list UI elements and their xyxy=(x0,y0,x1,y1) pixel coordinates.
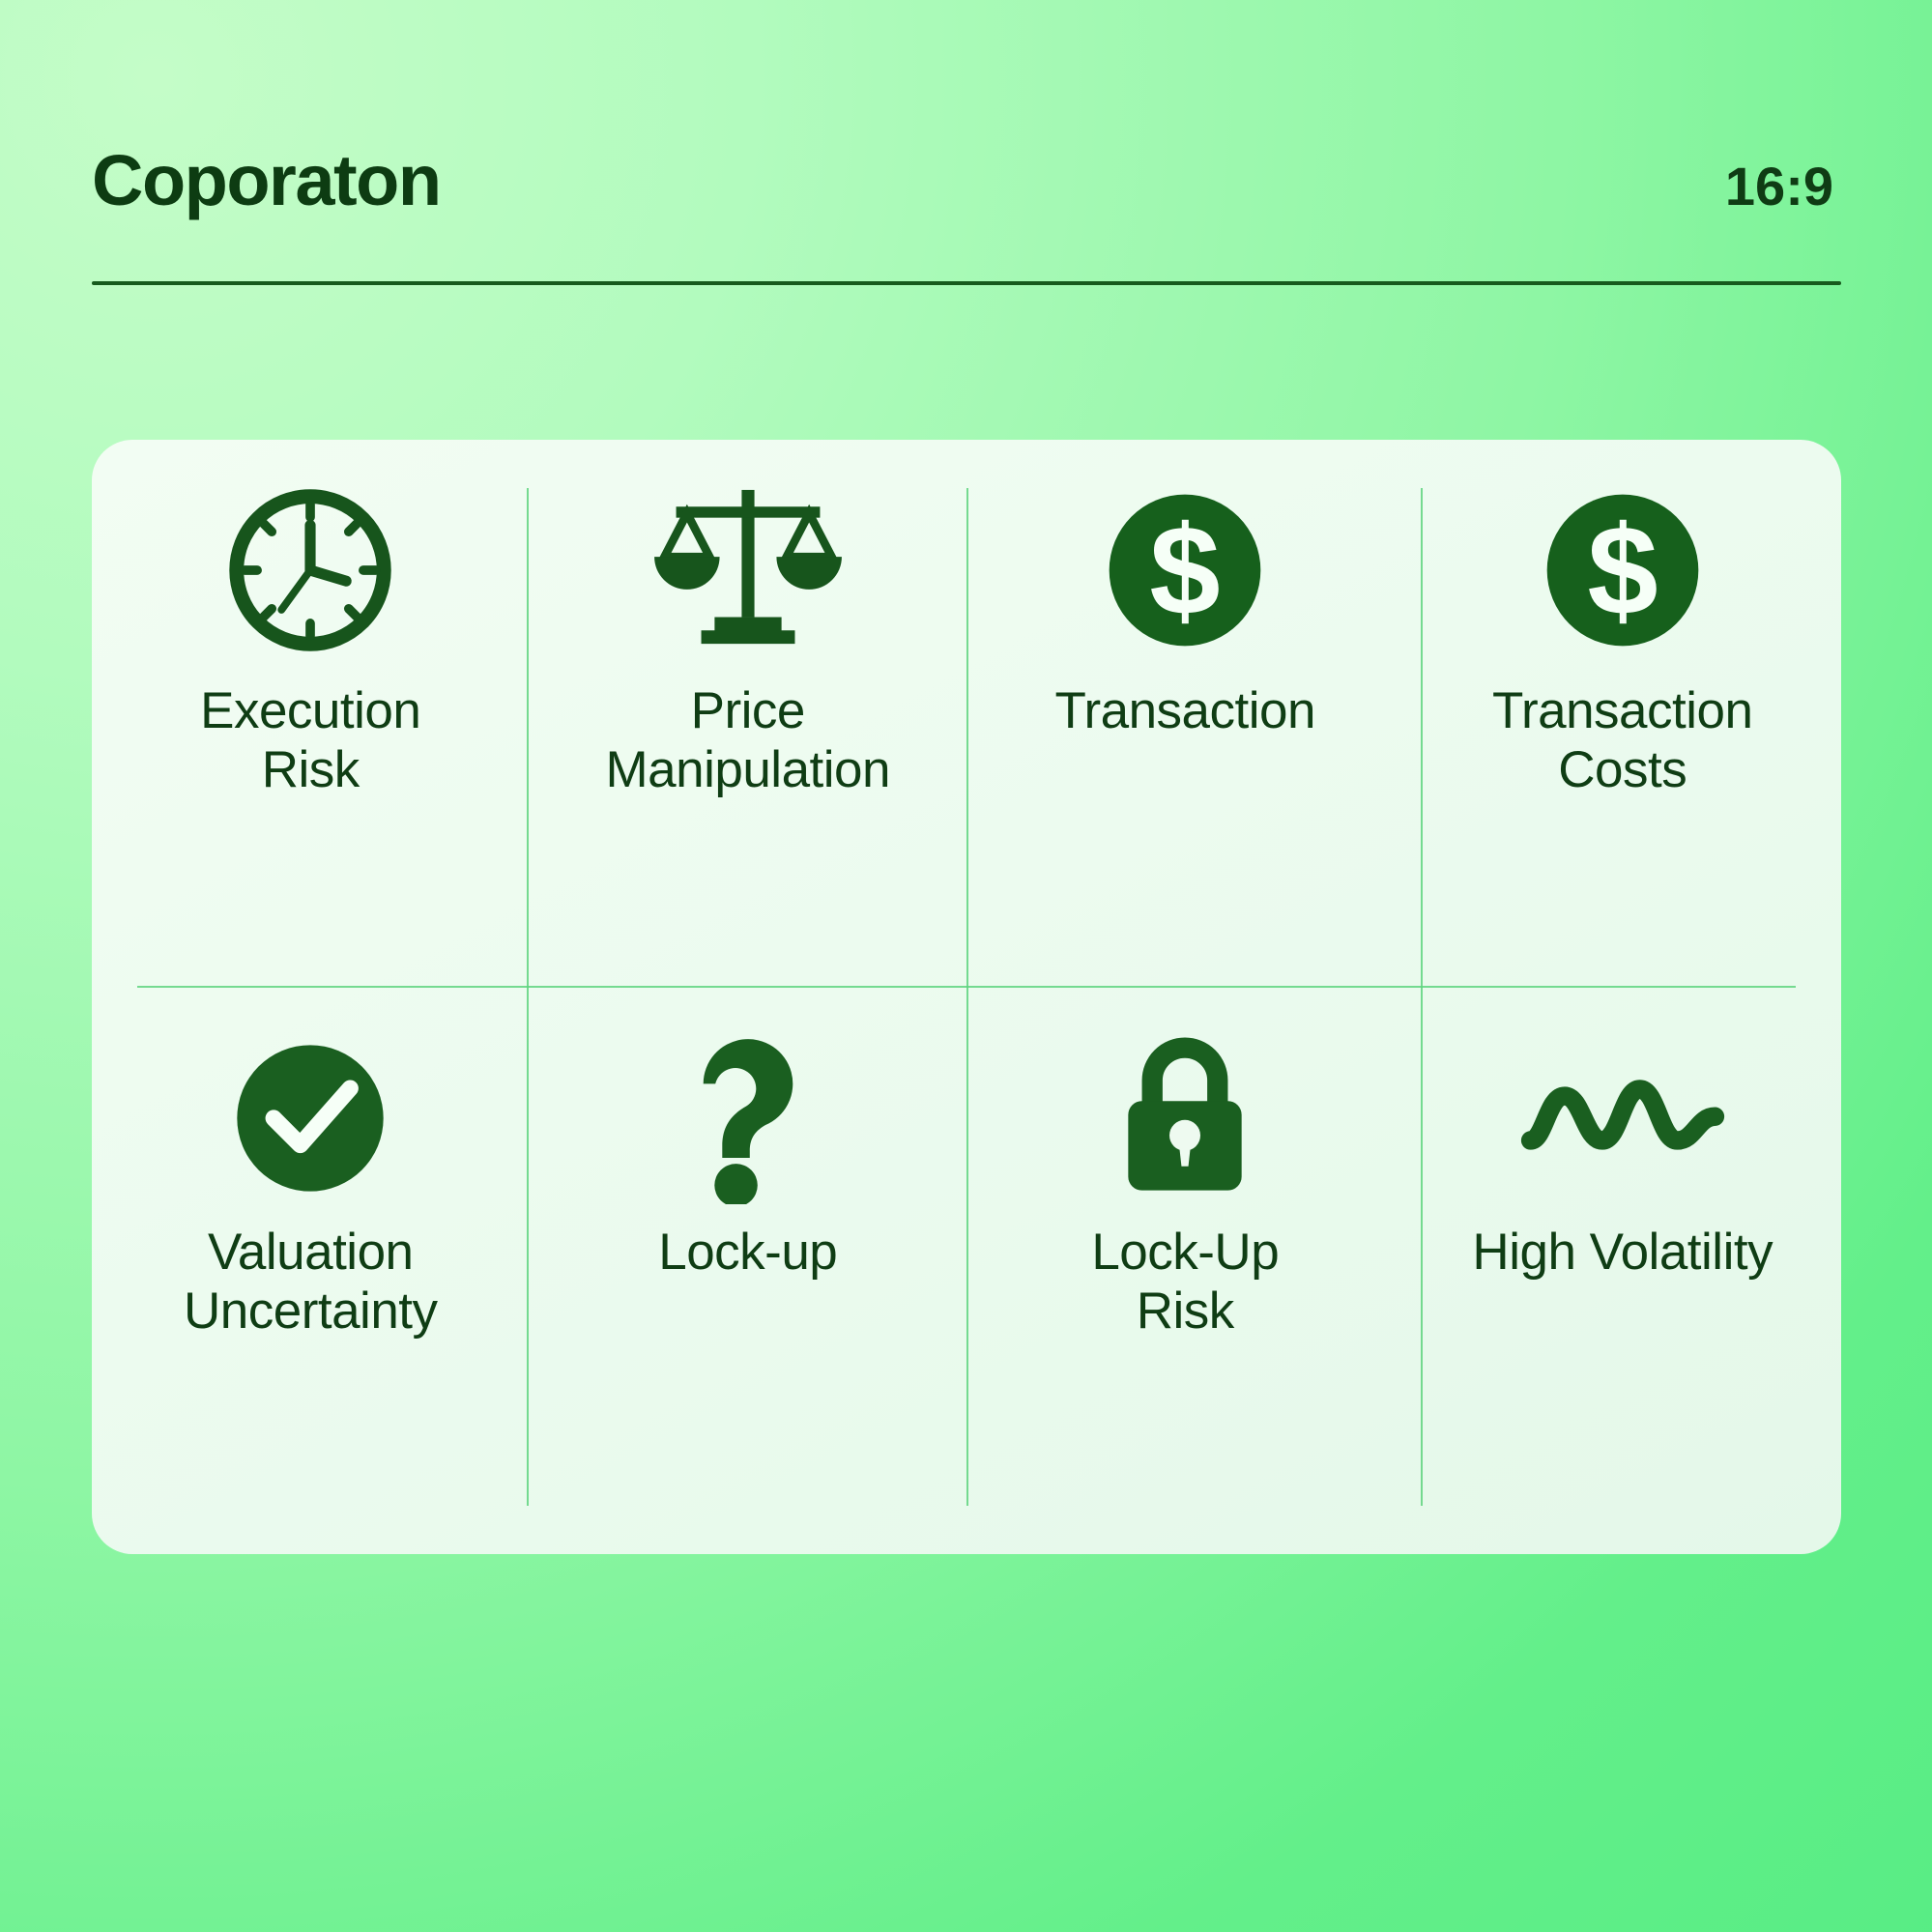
grid-cell-transaction[interactable]: $ Transaction xyxy=(966,440,1404,997)
grid-cell-lock-up[interactable]: Lock-up xyxy=(530,997,967,1555)
grid-cell-transaction-costs[interactable]: $ Transaction Costs xyxy=(1404,440,1842,997)
header-divider xyxy=(92,281,1841,285)
cell-label: Price Manipulation xyxy=(605,681,890,800)
clock-icon xyxy=(220,459,400,681)
cell-label: Valuation Uncertainty xyxy=(184,1223,438,1341)
grid-cell-price-manipulation[interactable]: Price Manipulation xyxy=(530,440,967,997)
svg-text:$: $ xyxy=(1587,500,1658,642)
grid-cell-valuation-uncertainty[interactable]: Valuation Uncertainty xyxy=(92,997,530,1555)
cell-label: Lock-up xyxy=(658,1223,837,1282)
risk-grid: Execution Risk xyxy=(92,440,1841,1554)
question-mark-icon xyxy=(676,1015,821,1223)
dollar-circle-icon: $ xyxy=(1537,459,1709,681)
cell-label: Execution Risk xyxy=(200,681,420,800)
grid-cell-lock-up-risk[interactable]: Lock-Up Risk xyxy=(966,997,1404,1555)
cell-label: Lock-Up Risk xyxy=(1091,1223,1279,1341)
balance-scale-icon xyxy=(647,459,850,681)
page-title: Coporaton xyxy=(92,145,441,216)
cell-label: High Volatility xyxy=(1472,1223,1773,1282)
grid-cell-execution-risk[interactable]: Execution Risk xyxy=(92,440,530,997)
page-header: Coporaton 16:9 xyxy=(92,145,1841,290)
cell-label: Transaction xyxy=(1055,681,1315,740)
dollar-circle-icon: $ xyxy=(1099,459,1271,681)
grid-cell-high-volatility[interactable]: High Volatility xyxy=(1404,997,1842,1555)
header-row: Coporaton 16:9 xyxy=(92,145,1841,256)
wave-icon xyxy=(1520,1015,1725,1223)
aspect-ratio-label: 16:9 xyxy=(1725,159,1841,214)
risk-grid-card: Execution Risk xyxy=(92,440,1841,1554)
padlock-icon xyxy=(1108,1015,1262,1223)
svg-text:$: $ xyxy=(1150,500,1221,642)
check-circle-icon xyxy=(227,1015,393,1223)
cell-label: Transaction Costs xyxy=(1492,681,1752,800)
